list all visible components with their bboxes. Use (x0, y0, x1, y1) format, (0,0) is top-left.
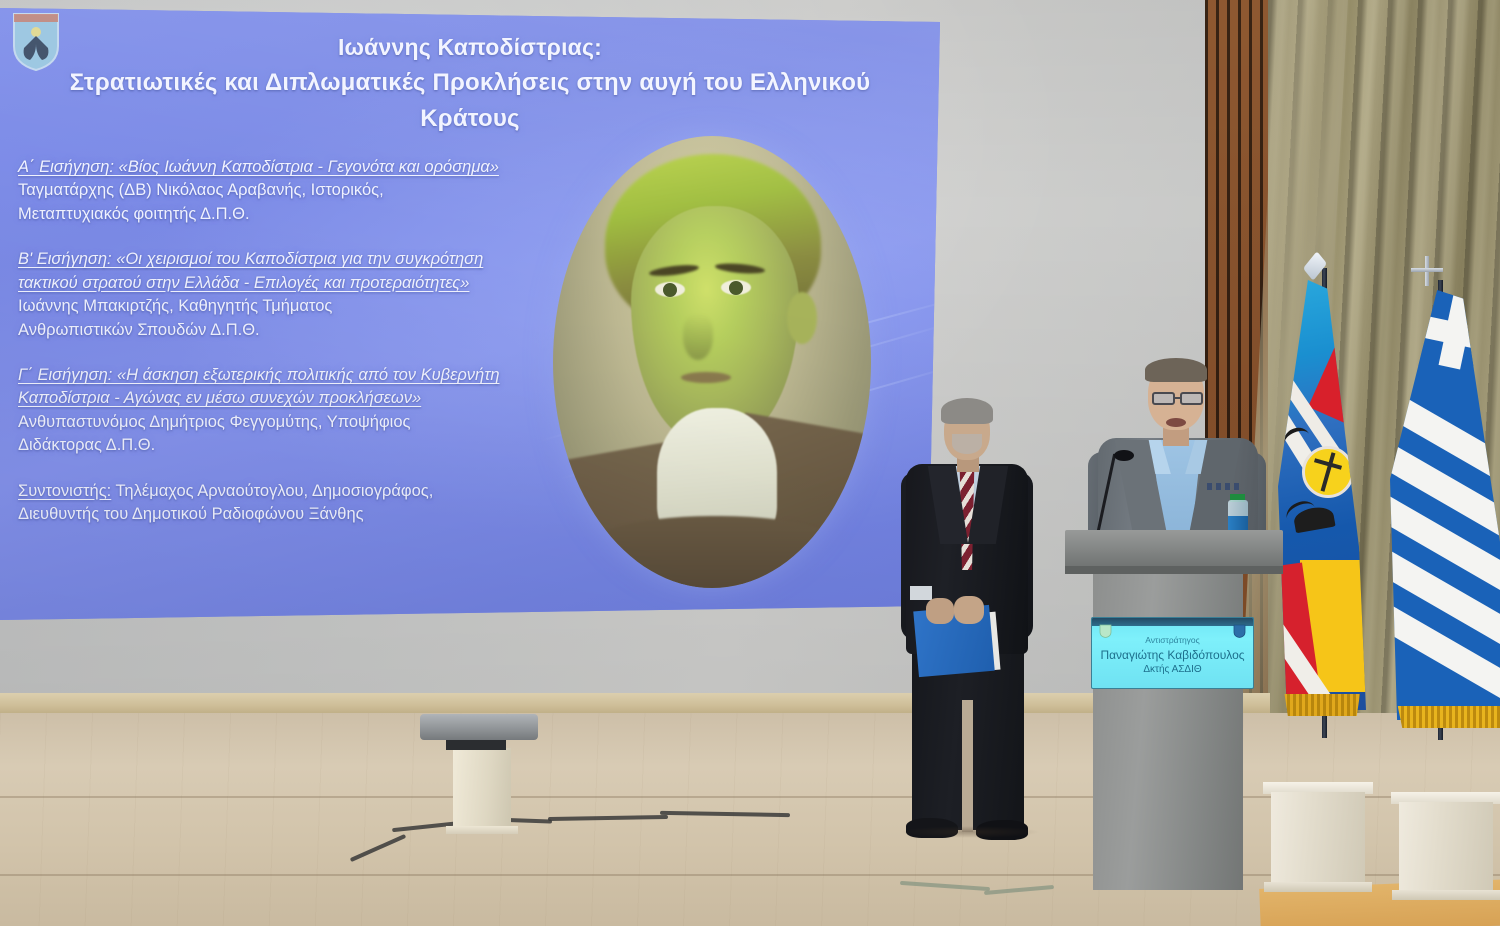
glasses-bridge-icon (1175, 397, 1180, 399)
attendee-hand-left (926, 598, 954, 624)
attendee-leg-gap (962, 700, 973, 832)
nameplate-position: Δκτής ΑΣΔΙΘ (1100, 663, 1244, 677)
attendee-hand-right (954, 596, 984, 624)
nameplate-top-bar (1092, 618, 1254, 626)
unit-flag-gold-fringe (1278, 694, 1360, 716)
speaker-mouth (1166, 418, 1186, 427)
glasses-icon (1152, 392, 1175, 405)
speaker-hair (1145, 358, 1207, 382)
glasses-lens-right-icon (1180, 392, 1203, 405)
flag-pedestal-right (1399, 802, 1493, 894)
monitor-pedestal-foot (446, 826, 518, 834)
flag-finial-cross-bar-icon (1411, 268, 1443, 272)
attendee-shirt-cuff (910, 586, 932, 600)
attendee-hair (941, 398, 993, 424)
lectern-nameplate-display: Αντιστράτηγος Παναγιώτης Καβιδόπουλος Δκ… (1091, 617, 1254, 689)
slide-light-veil (0, 8, 940, 620)
nameplate-rank: Αντιστράτηγος (1100, 635, 1244, 646)
flag-pedestal-foot (1264, 882, 1372, 892)
lectern-top (1065, 530, 1283, 570)
nameplate-text: Αντιστράτηγος Παναγιώτης Καβιδόπουλος Δκ… (1100, 635, 1244, 676)
flag-pedestal-left (1271, 792, 1365, 886)
microphone-head-icon (1114, 450, 1134, 461)
monitor-pedestal (453, 748, 511, 830)
greek-flag-gold-fringe (1392, 706, 1500, 728)
attendee-floor-shadow (900, 826, 1040, 838)
nameplate-name: Παναγιώτης Καβιδόπουλος (1100, 647, 1244, 663)
screenshot-root: Ιωάννης Καποδίστριας: Στρατιωτικές και Δ… (0, 0, 1500, 926)
projection-screen: Ιωάννης Καποδίστριας: Στρατιωτικές και Δ… (0, 8, 940, 620)
flag-pedestal-foot (1392, 890, 1500, 900)
attendee-beard (952, 434, 982, 454)
stage-monitor (420, 714, 538, 740)
lectern-top-edge (1065, 566, 1283, 574)
speaker-pocket-detail (1207, 483, 1239, 490)
